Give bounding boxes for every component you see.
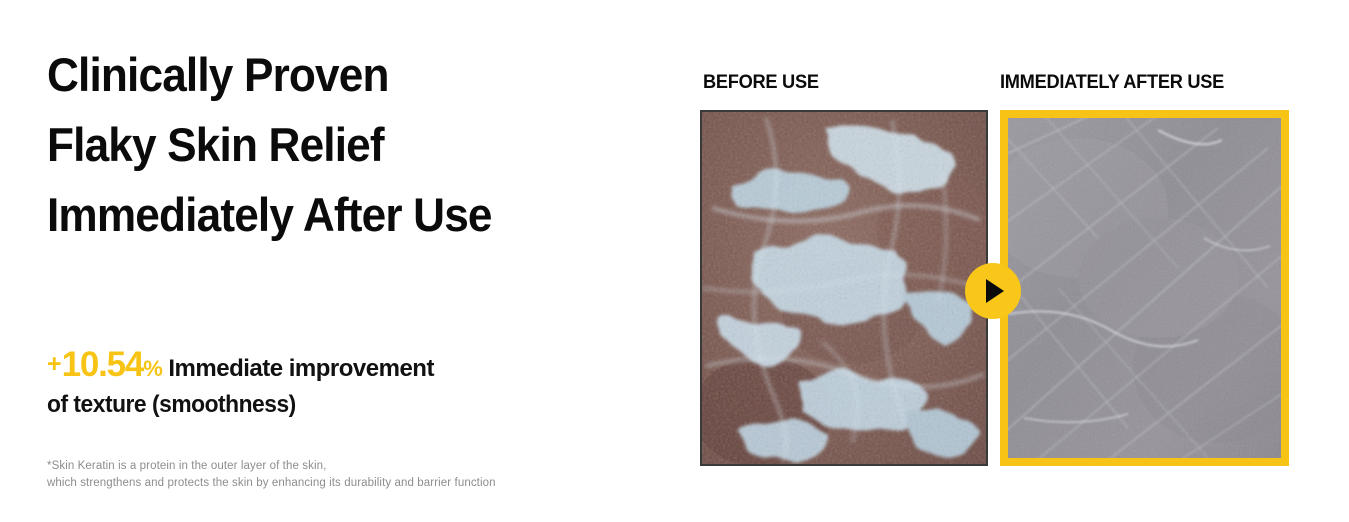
- footnote-line-2: which strengthens and protects the skin …: [47, 475, 496, 492]
- headline-line-3: Immediately After Use: [47, 180, 492, 250]
- footnote-line-1: *Skin Keratin is a protein in the outer …: [47, 458, 496, 475]
- play-button[interactable]: [965, 263, 1021, 319]
- after-label: IMMEDIATELY AFTER USE: [1000, 72, 1224, 94]
- left-text-column: Clinically Proven Flaky Skin Relief Imme…: [47, 0, 687, 522]
- stat-percent-sign: %: [143, 356, 162, 381]
- smooth-skin-texture-image: [1008, 118, 1281, 458]
- stat-description-line-1: Immediate improvement: [168, 355, 434, 382]
- after-photo: [1000, 110, 1289, 466]
- before-photo: [700, 110, 988, 466]
- headline-line-2: Flaky Skin Relief: [47, 110, 492, 180]
- stat-value-row: +10.54%Immediate improvement: [47, 347, 667, 389]
- stat-value: 10.54: [62, 345, 144, 384]
- headline-line-1: Clinically Proven: [47, 40, 492, 110]
- stat-description-line-2: of texture (smoothness): [47, 389, 636, 421]
- play-triangle-icon: [986, 279, 1004, 303]
- promo-banner: Clinically Proven Flaky Skin Relief Imme…: [0, 0, 1349, 522]
- page-title: Clinically Proven Flaky Skin Relief Imme…: [47, 40, 492, 250]
- before-after-comparison: BEFORE USE: [700, 0, 1300, 522]
- stat-plus-sign: +: [47, 350, 62, 378]
- before-label: BEFORE USE: [703, 72, 819, 94]
- improvement-stat: +10.54%Immediate improvement of texture …: [47, 347, 667, 421]
- footnote: *Skin Keratin is a protein in the outer …: [47, 458, 496, 491]
- flaky-skin-texture-image: [702, 112, 986, 464]
